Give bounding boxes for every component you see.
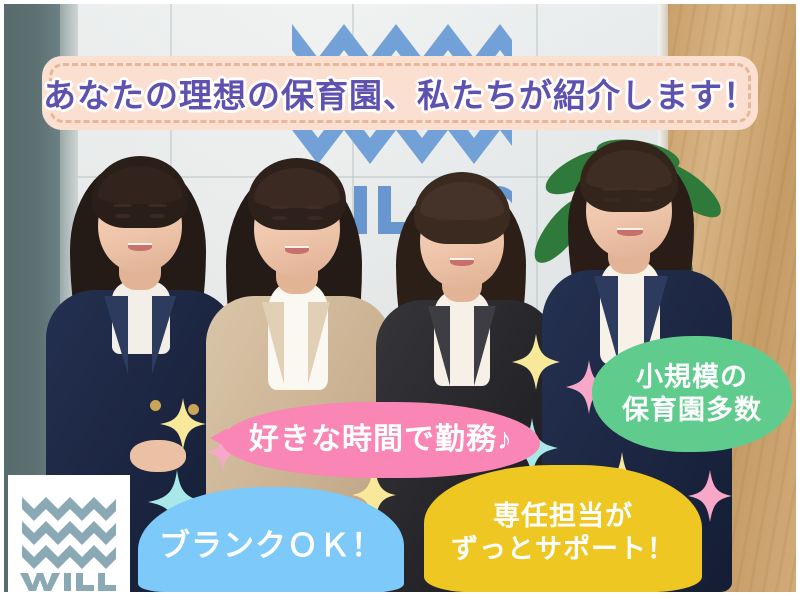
bubble-blue-text: ブランクＯＫ！	[159, 527, 383, 565]
bubble-green-text: 小規模の 保育園多数	[622, 361, 762, 427]
headline-banner: あなたの理想の保育園、私たちが紹介します！	[42, 56, 758, 130]
frame-edge-right	[796, 0, 800, 600]
willof-logo	[8, 475, 130, 592]
frame-edge-top	[0, 0, 800, 4]
headline-text: あなたの理想の保育園、私たちが紹介します！	[42, 56, 758, 130]
bubble-yellow-text: 専任担当が ずっとサポート！	[451, 500, 675, 566]
sparkle-icon	[160, 398, 206, 450]
bubble-green: 小規模の 保育園多数	[592, 336, 792, 452]
sparkle-icon	[512, 334, 560, 390]
frame-edge-left	[0, 0, 4, 600]
bubble-pink: 好きな時間で勤務♪	[222, 402, 540, 478]
frame-edge-bottom	[0, 592, 800, 600]
poster-root: あなたの理想の保育園、私たちが紹介します！ 好きな時間で勤務♪ 小規模の 保育園…	[0, 0, 800, 600]
bubble-pink-text: 好きな時間で勤務♪	[249, 422, 513, 459]
bubble-yellow: 専任担当が ずっとサポート！	[424, 465, 702, 592]
bubble-tail	[210, 428, 228, 448]
